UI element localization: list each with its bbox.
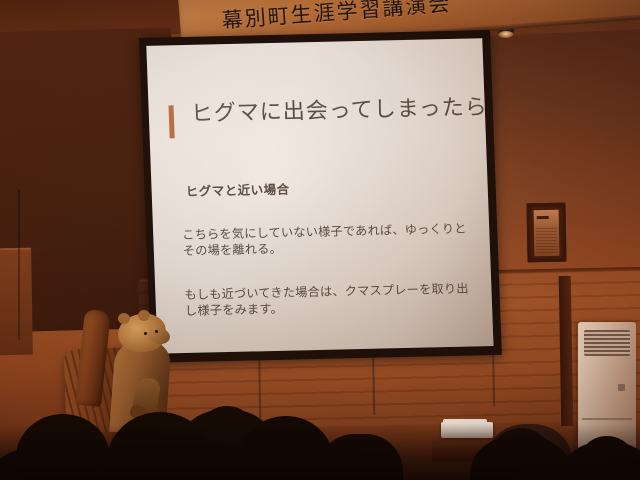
lecture-hall-photo: 幕別町生涯学習講演会 ヒグマに出会ってしまったら？ ヒグマと近 xyxy=(0,0,640,480)
left-wall-seam xyxy=(18,190,20,340)
bear-eye xyxy=(144,332,147,335)
ac-panel-seam xyxy=(582,418,632,420)
panel-slot xyxy=(537,216,549,219)
title-accent-bar xyxy=(168,105,174,138)
left-wall-frame xyxy=(0,248,33,356)
ac-badge xyxy=(618,384,625,391)
slide-subheading: ヒグマと近い場合 xyxy=(185,179,290,200)
slide-title-row: ヒグマに出会ってしまったら？ xyxy=(168,95,493,139)
bear-ear xyxy=(118,313,130,324)
ac-grille-icon xyxy=(584,330,630,356)
bear-eye xyxy=(155,330,158,333)
wall-niche xyxy=(526,203,566,263)
projector-top-cover xyxy=(443,419,487,424)
slide-title: ヒグマに出会ってしまったら？ xyxy=(190,95,493,128)
projector xyxy=(441,422,493,438)
panel-grille xyxy=(536,228,557,253)
bear-ear xyxy=(138,310,150,321)
wall-panel xyxy=(534,210,560,256)
slide-paragraph: こちらを気にしていない様子であれば、ゆっくりとその場を離れる。 xyxy=(182,220,473,259)
slide-paragraph: もしも近づいてきた場合は、クマスプレーを取り出し様子をみます。 xyxy=(184,280,475,319)
